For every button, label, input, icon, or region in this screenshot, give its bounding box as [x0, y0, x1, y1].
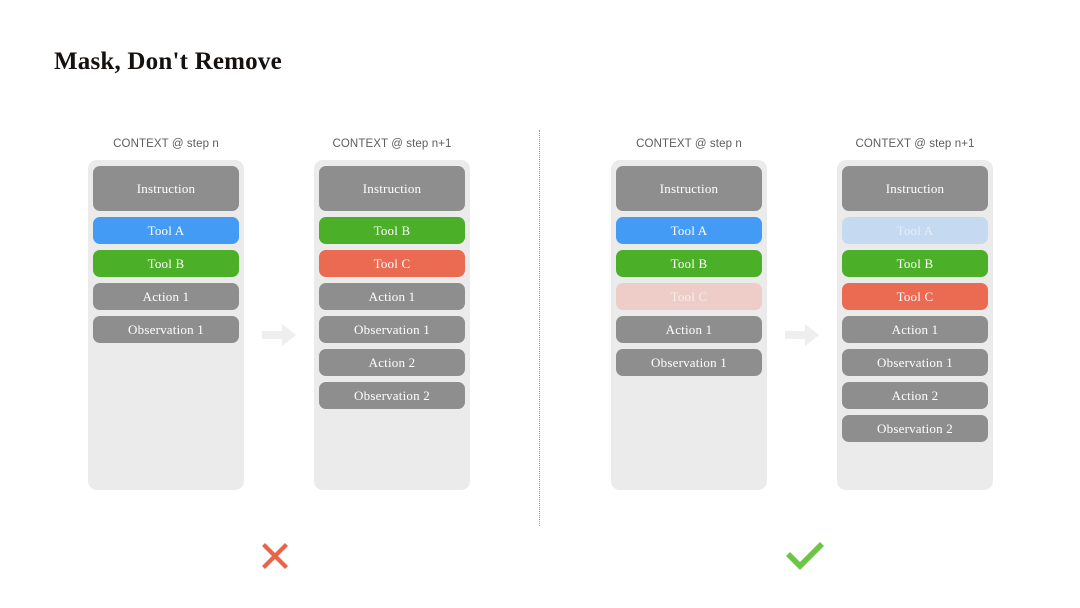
context-block[interactable]: Tool A: [842, 217, 988, 244]
context-block[interactable]: Instruction: [93, 166, 239, 211]
context-block[interactable]: Tool C: [616, 283, 762, 310]
context-column-header: CONTEXT @ step n+1: [332, 138, 451, 150]
context-column-header: CONTEXT @ step n: [113, 138, 219, 150]
context-block[interactable]: Tool A: [616, 217, 762, 244]
context-panel: InstructionTool ATool BTool CAction 1Obs…: [837, 160, 993, 490]
context-block[interactable]: Tool B: [842, 250, 988, 277]
context-block[interactable]: Action 1: [616, 316, 762, 343]
context-panel: InstructionTool ATool BAction 1Observati…: [88, 160, 244, 490]
context-column-0-1: CONTEXT @ step n+1InstructionTool BTool …: [314, 138, 470, 490]
context-block[interactable]: Tool B: [616, 250, 762, 277]
context-block[interactable]: Observation 2: [319, 382, 465, 409]
context-block[interactable]: Observation 1: [842, 349, 988, 376]
context-block[interactable]: Observation 1: [616, 349, 762, 376]
vertical-dotted-divider: [539, 130, 540, 526]
context-block[interactable]: Observation 1: [319, 316, 465, 343]
context-block[interactable]: Action 1: [319, 283, 465, 310]
context-block[interactable]: Action 1: [93, 283, 239, 310]
flow-row-remove: CONTEXT @ step nInstructionTool ATool BA…: [88, 138, 470, 500]
context-block[interactable]: Action 2: [319, 349, 465, 376]
context-block[interactable]: Action 1: [842, 316, 988, 343]
context-block[interactable]: Instruction: [319, 166, 465, 211]
context-column-1-0: CONTEXT @ step nInstructionTool ATool BT…: [611, 138, 767, 490]
context-block[interactable]: Tool C: [842, 283, 988, 310]
diagram-group-mask: CONTEXT @ step nInstructionTool ATool BT…: [611, 138, 993, 500]
context-block[interactable]: Observation 2: [842, 415, 988, 442]
context-column-1-1: CONTEXT @ step n+1InstructionTool ATool …: [837, 138, 993, 490]
context-block[interactable]: Observation 1: [93, 316, 239, 343]
context-panel: InstructionTool ATool BTool CAction 1Obs…: [611, 160, 767, 490]
arrow-right-icon: [767, 170, 837, 500]
context-column-0-0: CONTEXT @ step nInstructionTool ATool BA…: [88, 138, 244, 490]
context-block[interactable]: Tool A: [93, 217, 239, 244]
cross-icon: [245, 526, 305, 586]
check-icon: [775, 526, 835, 586]
context-panel: InstructionTool BTool CAction 1Observati…: [314, 160, 470, 490]
context-column-header: CONTEXT @ step n+1: [855, 138, 974, 150]
context-block[interactable]: Action 2: [842, 382, 988, 409]
context-column-header: CONTEXT @ step n: [636, 138, 742, 150]
context-block[interactable]: Tool C: [319, 250, 465, 277]
flow-row-mask: CONTEXT @ step nInstructionTool ATool BT…: [611, 138, 993, 500]
context-block[interactable]: Tool B: [319, 217, 465, 244]
context-block[interactable]: Instruction: [616, 166, 762, 211]
diagram-group-remove: CONTEXT @ step nInstructionTool ATool BA…: [88, 138, 470, 500]
page-title: Mask, Don't Remove: [54, 48, 282, 76]
context-block[interactable]: Tool B: [93, 250, 239, 277]
context-block[interactable]: Instruction: [842, 166, 988, 211]
arrow-right-icon: [244, 170, 314, 500]
